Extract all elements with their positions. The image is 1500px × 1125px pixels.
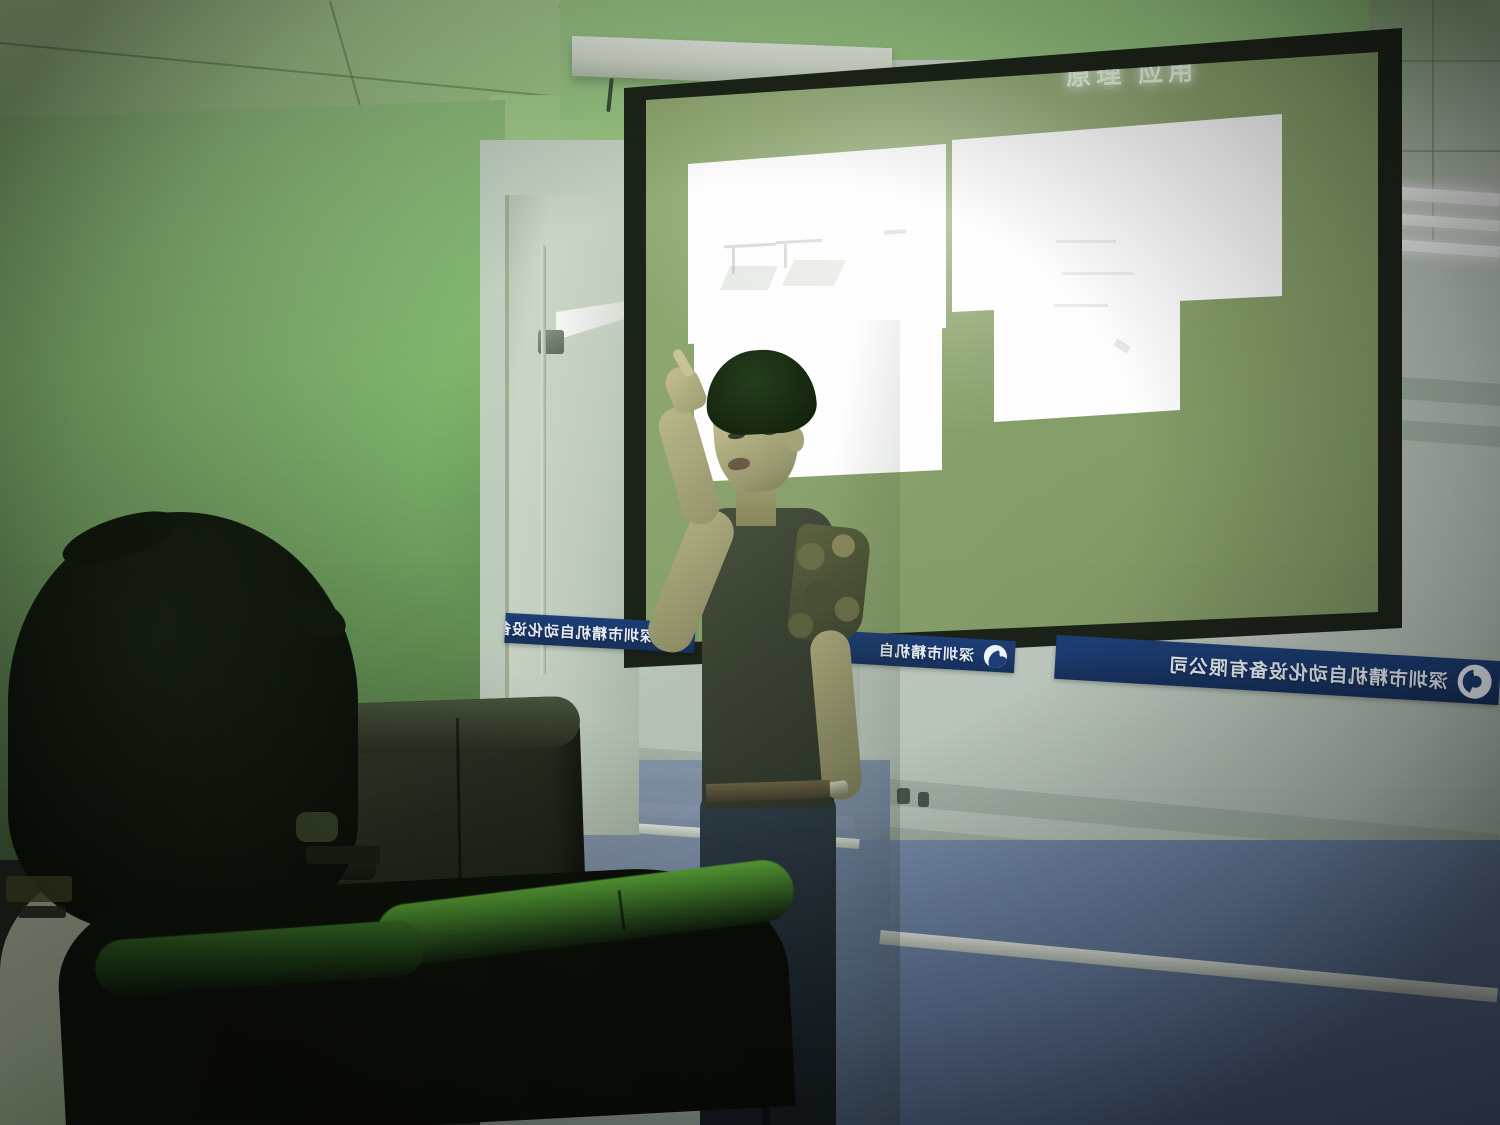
- slide-panel-bottom-right: [994, 260, 1180, 422]
- desk-object: [306, 846, 380, 864]
- presenter-camo-sleeve: [786, 522, 872, 645]
- screenshot-scene: 原理 应用 深圳市精机自动化设备有限公司 深圳市精机自 深圳市精机自动化设备有限…: [0, 0, 1500, 1125]
- slide-text-mark: [1056, 240, 1116, 243]
- desk-object: [6, 876, 72, 902]
- slide-panel-top-left: [688, 144, 946, 344]
- company-logo-icon: [983, 644, 1007, 668]
- slide-text-mark: [1062, 272, 1134, 275]
- presenter-hair: [704, 347, 818, 437]
- company-banner-text: 深圳市精机自: [877, 639, 974, 666]
- wall-outlet-plate: [918, 792, 929, 807]
- slide-chart-mark: [720, 266, 778, 290]
- desk-object: [296, 812, 338, 842]
- door-handle[interactable]: [541, 245, 546, 675]
- company-logo-icon: [1457, 664, 1493, 700]
- ceiling-reflection-line: [1432, 0, 1434, 240]
- company-banner-text: 深圳市精机自动化设备有限公司: [1167, 650, 1448, 694]
- slide-text-mark: [1054, 304, 1108, 307]
- wall-outlet-plate: [897, 788, 910, 804]
- attendee-head: [8, 512, 358, 932]
- desk-object: [18, 906, 66, 918]
- slide-chart-mark: [784, 244, 787, 268]
